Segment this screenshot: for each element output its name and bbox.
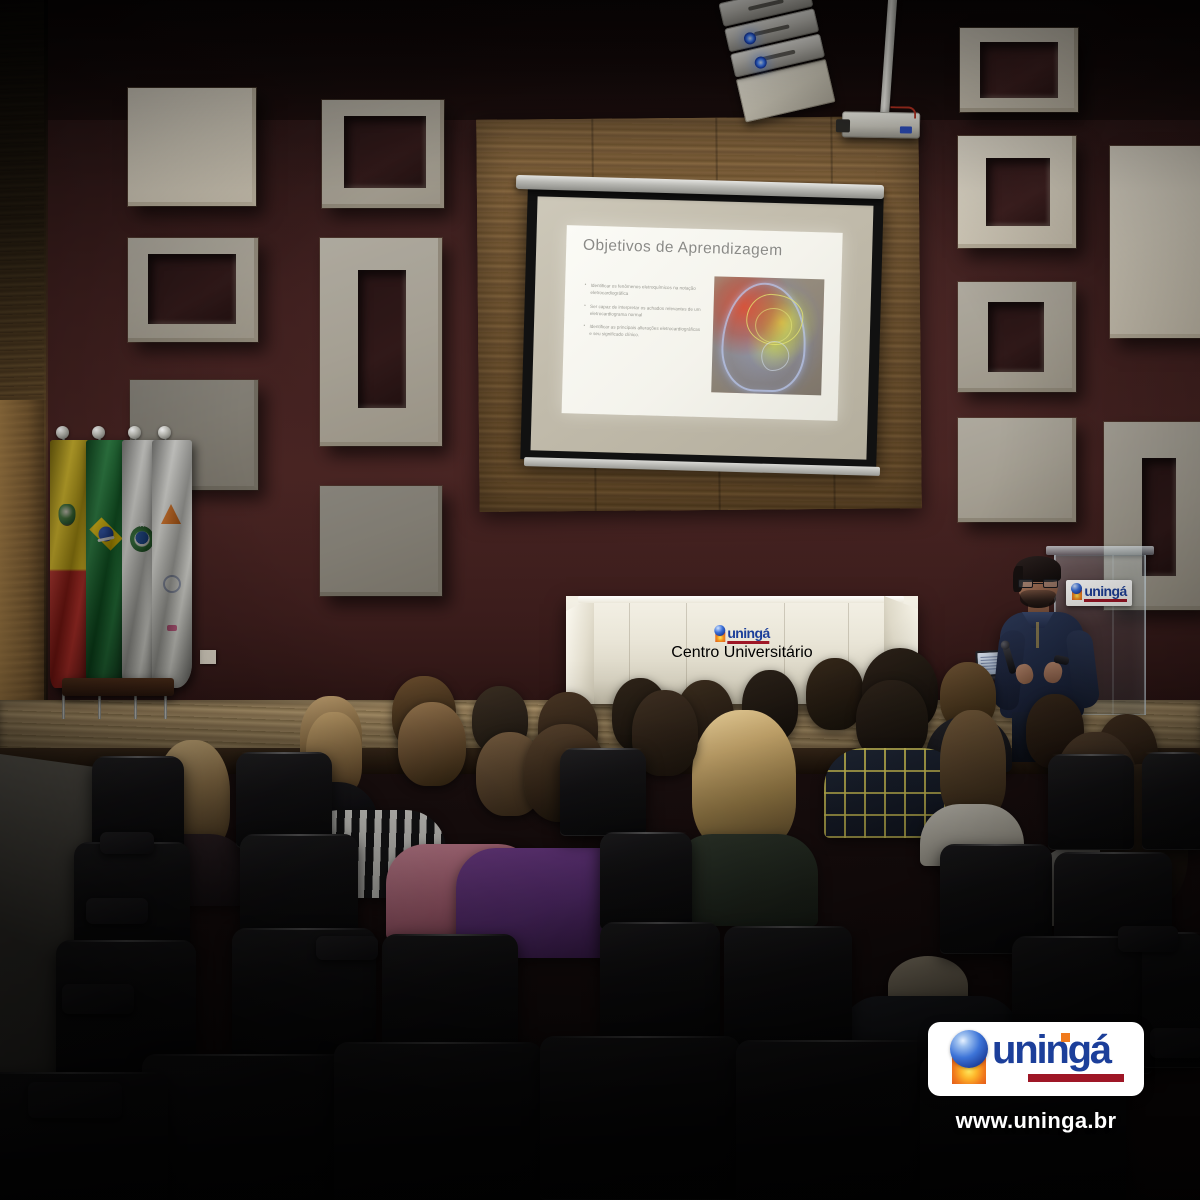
wall-panel-solid-6 <box>320 486 442 596</box>
wall-panel-frame-9 <box>958 282 1076 392</box>
uninga-logo-card: uningá <box>928 1022 1144 1096</box>
wall-panel-solid-10 <box>958 418 1076 522</box>
seat-armrest <box>28 1082 122 1118</box>
seat-armrest <box>86 898 148 924</box>
flag-ring-icon <box>163 575 181 593</box>
seat-armrest <box>1118 926 1178 952</box>
slide-bullet-list: Identificar os fenômenos eletroquímicos … <box>583 282 703 346</box>
website-url[interactable]: www.uninga.br <box>928 1108 1144 1134</box>
uninga-watermark[interactable]: uningá www.uninga.br <box>928 1022 1144 1134</box>
wall-panel-frame-7 <box>960 28 1078 112</box>
flag-finial <box>158 426 171 439</box>
panel-cutout <box>358 270 406 408</box>
auditorium-seat[interactable] <box>600 922 720 1042</box>
flag-triangle-icon <box>161 504 181 524</box>
presentation-slide: Objetivos de Aprendizagem Identificar os… <box>562 225 843 421</box>
presenter-beard <box>1020 590 1056 608</box>
auditorium-seat[interactable] <box>540 1036 740 1200</box>
seat-armrest <box>100 832 154 854</box>
projector-lens-icon <box>836 119 850 132</box>
logo-blue-sphere-icon <box>714 625 725 636</box>
auditorium-seat[interactable] <box>724 926 852 1052</box>
wall-panel-frame-3 <box>128 238 258 342</box>
projection-screen: Objetivos de Aprendizagem Identificar os… <box>520 187 883 469</box>
logo-blue-sphere-icon <box>950 1030 988 1068</box>
slide-bullet: Identificar as principais alterações ele… <box>583 322 702 340</box>
panel-cutout <box>986 158 1050 226</box>
wall-panel-frame-2 <box>322 100 444 208</box>
slide-title: Objetivos de Aprendizagem <box>583 237 831 262</box>
logo-i-dot <box>1061 1033 1070 1042</box>
flag-crest-icon <box>58 504 75 526</box>
projector-port <box>900 126 912 133</box>
seat-armrest <box>1150 1028 1200 1058</box>
wall-panel-frame-4 <box>320 238 442 446</box>
glasses-icon <box>1018 579 1058 588</box>
flag-globe-icon <box>99 527 114 542</box>
flag-accent <box>167 625 177 631</box>
auditorium-seat[interactable] <box>1048 754 1134 850</box>
flag-banner-band <box>97 536 114 542</box>
panel-cutout <box>148 254 236 324</box>
seat-armrest <box>62 984 134 1014</box>
auditorium-photo: Objetivos de Aprendizagem Identificar os… <box>0 0 1200 1200</box>
panel-cutout <box>344 116 426 188</box>
screen-surface: Objetivos de Aprendizagem Identificar os… <box>531 196 874 459</box>
flag-star-icon <box>139 521 146 528</box>
auditorium-seat[interactable] <box>560 748 646 836</box>
seat-armrest <box>316 936 378 960</box>
logo-red-bar <box>1028 1074 1124 1082</box>
flag-finial <box>92 426 105 439</box>
ceiling-projector <box>842 111 920 138</box>
flag-rhombus <box>89 518 122 551</box>
wall-panel-frame-8 <box>958 136 1076 248</box>
flag-finial <box>128 426 141 439</box>
attendee-shoulders-green <box>672 834 818 926</box>
podium-top-surface <box>1046 546 1154 555</box>
projector-cable <box>890 106 916 118</box>
attendee-head <box>398 702 466 786</box>
table-edge <box>578 596 904 603</box>
logo-wordmark: uningá <box>992 1030 1110 1070</box>
wall-panel-solid-11 <box>1110 146 1200 338</box>
attendee-head <box>692 710 796 850</box>
brain-scan-image <box>711 276 824 396</box>
flag-finial <box>56 426 69 439</box>
auditorium-seat[interactable] <box>142 1054 348 1200</box>
auditorium-seat[interactable] <box>600 832 692 930</box>
slide-bullet: Identificar os fenômenos eletroquímicos … <box>584 282 703 300</box>
auditorium-seat[interactable] <box>334 1042 542 1200</box>
panel-cutout <box>988 302 1044 372</box>
auditorium-seat[interactable] <box>1142 752 1200 850</box>
flag-wreath-icon <box>130 526 154 552</box>
slide-bullet: Ser capaz de interpretar os achados rele… <box>584 302 703 320</box>
panel-cutout <box>980 42 1058 98</box>
auditorium-seat[interactable] <box>736 1040 934 1200</box>
wall-panel-solid-1 <box>128 88 256 206</box>
